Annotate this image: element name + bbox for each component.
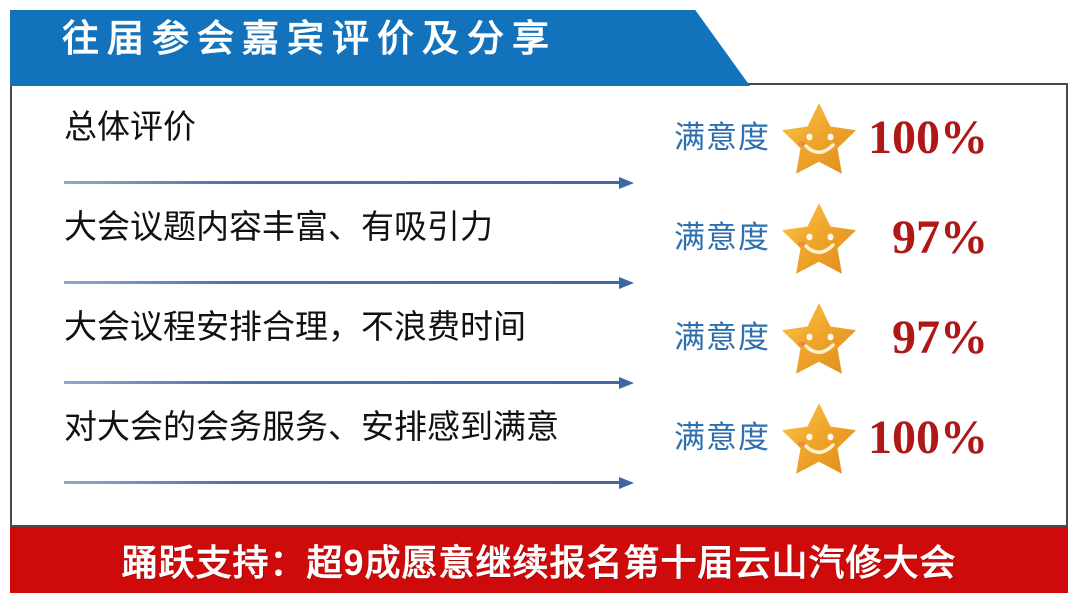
survey-row-rating: 满意度: [674, 107, 988, 169]
evaluation-poster: 往届参会嘉宾评价及分享 总体评价 满意度: [0, 0, 1080, 603]
survey-row: 大会议题内容丰富、有吸引力 满意度: [10, 201, 1068, 301]
arrow-head: [619, 477, 634, 489]
survey-row-label: 大会议程安排合理，不浪费时间: [64, 301, 526, 353]
smiling-star-icon: [778, 299, 860, 377]
survey-rows: 总体评价 满意度: [10, 83, 1068, 527]
arrow-shaft: [64, 381, 620, 384]
footer-banner: 踊跃支持：超9成愿意继续报名第十届云山汽修大会: [10, 527, 1068, 593]
satisfaction-percent: 100%: [868, 113, 988, 163]
smiling-star-icon: [778, 199, 860, 277]
arrow-icon: [64, 177, 634, 189]
footer-text: 踊跃支持：超9成愿意继续报名第十届云山汽修大会: [10, 527, 1068, 593]
satisfaction-label: 满意度: [674, 318, 770, 358]
arrow-head: [619, 277, 634, 289]
arrow-shaft: [64, 181, 620, 184]
survey-row: 总体评价 满意度: [10, 101, 1068, 201]
satisfaction-label: 满意度: [674, 118, 770, 158]
survey-row-rating: 满意度: [674, 407, 988, 469]
survey-row: 对大会的会务服务、安排感到满意 满意度: [10, 401, 1068, 501]
arrow-shaft: [64, 281, 620, 284]
arrow-icon: [64, 277, 634, 289]
survey-row-rating: 满意度: [674, 307, 988, 369]
survey-row-label: 对大会的会务服务、安排感到满意: [64, 401, 559, 453]
arrow-icon: [64, 477, 634, 489]
arrow-head: [619, 177, 634, 189]
page-title: 往届参会嘉宾评价及分享: [62, 16, 557, 62]
survey-row: 大会议程安排合理，不浪费时间 满意度: [10, 301, 1068, 401]
survey-row-rating: 满意度: [674, 207, 988, 269]
satisfaction-label: 满意度: [674, 418, 770, 458]
arrow-icon: [64, 377, 634, 389]
satisfaction-percent: 100%: [868, 413, 988, 463]
smiling-star-icon: [778, 399, 860, 477]
survey-row-label: 总体评价: [64, 101, 196, 153]
satisfaction-percent: 97%: [892, 213, 988, 263]
arrow-head: [619, 377, 634, 389]
satisfaction-label: 满意度: [674, 218, 770, 258]
survey-row-label: 大会议题内容丰富、有吸引力: [64, 201, 493, 253]
arrow-shaft: [64, 481, 620, 484]
satisfaction-percent: 97%: [892, 313, 988, 363]
smiling-star-icon: [778, 99, 860, 177]
